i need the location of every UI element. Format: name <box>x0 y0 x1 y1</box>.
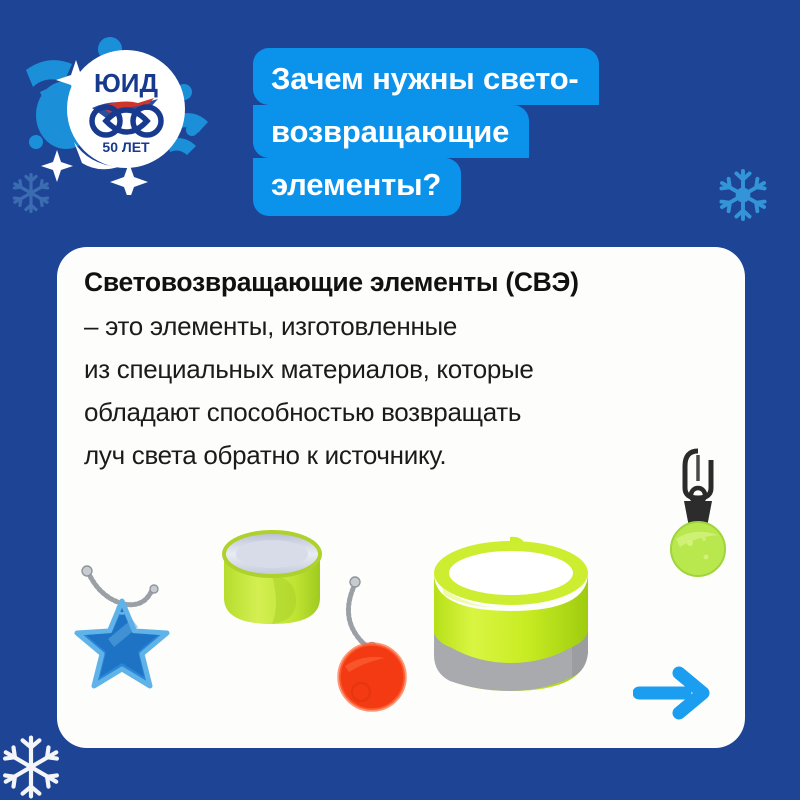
title-line-3: элементы? <box>253 158 461 216</box>
logo-acronym-text: ЮИД <box>94 68 159 98</box>
card-body-line-3: обладают способностью возвращать <box>84 399 724 425</box>
logo-anniversary-text: 50 ЛЕТ <box>102 139 150 155</box>
card-text-block: Световозвращающие элементы (СВЭ) – это э… <box>84 269 724 468</box>
card-heading: Световозвращающие элементы (СВЭ) <box>84 269 724 296</box>
star-keychain-photo <box>66 550 186 690</box>
card-body-line-1: – это элементы, изготовленные <box>84 313 724 339</box>
reflective-band-photo <box>424 525 599 710</box>
snowflake-icon <box>713 165 773 225</box>
title-line-1: Зачем нужны свето- <box>253 48 599 105</box>
card-body-line-2: из специальных материалов, которые <box>84 356 724 382</box>
snowflake-icon <box>0 732 66 800</box>
card-body-line-4: луч света обратно к источнику. <box>84 442 724 468</box>
ball-clip-photo <box>660 443 736 583</box>
yuid-50-years-logo: ЮИД 50 ЛЕТ <box>14 30 224 195</box>
title-line-2: возвращающие <box>253 105 529 158</box>
arrow-right-icon[interactable] <box>633 663 715 723</box>
round-keychain-photo <box>315 570 425 715</box>
page-title: Зачем нужны свето- возвращающие элементы… <box>253 48 599 216</box>
